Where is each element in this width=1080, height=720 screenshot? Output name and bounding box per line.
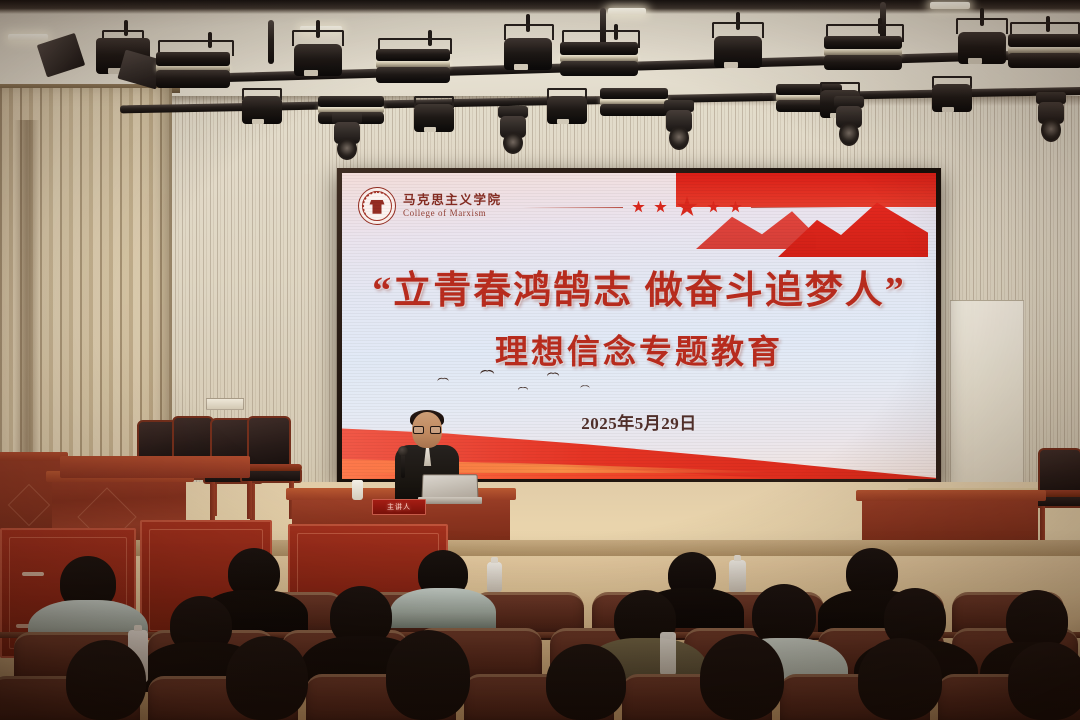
audience-shoulders [390, 588, 496, 628]
audience-head [386, 630, 470, 720]
star-icon [632, 201, 645, 214]
school-name-block: 马克思主义学院 College of Marxism [403, 193, 502, 218]
fresnel-light [412, 100, 456, 140]
moving-head-light [1034, 92, 1068, 144]
screen-subtitle: 理想信念专题教育 [342, 325, 936, 373]
audience-head [546, 644, 626, 720]
star-divider [522, 195, 852, 219]
truss-drop-pipe [268, 20, 274, 64]
bird-icon [580, 385, 588, 390]
stage-side-cabinet-top [0, 452, 68, 461]
podium-nameplate: 主讲人 [372, 499, 426, 515]
audience-head [700, 634, 784, 720]
moving-head-light [832, 96, 866, 148]
fresnel-light [556, 36, 642, 82]
laptop-base [418, 497, 482, 504]
bird-icon [480, 370, 493, 377]
divider-rule-left [522, 207, 623, 208]
podium-laptop [418, 474, 480, 504]
ceiling-shadow [0, 0, 1080, 14]
school-seal-icon [358, 187, 396, 225]
fresnel-light [930, 80, 974, 120]
audience-head [66, 640, 146, 720]
star-icon-large [676, 196, 698, 218]
curtain-fold-shadow [14, 120, 40, 480]
fresnel-light [372, 42, 456, 88]
screen-main-title: “立青春鸿鹄志 做奋斗追梦人” [342, 259, 936, 314]
audience-water-bottle [660, 632, 676, 676]
star-icon [654, 201, 667, 214]
audience-head [1008, 642, 1080, 720]
podium-water-cup [352, 480, 363, 500]
screen-logo-block: 马克思主义学院 College of Marxism [358, 187, 502, 225]
moving-head-light [330, 112, 364, 162]
fresnel-light [288, 34, 346, 82]
wall-access-door [950, 300, 1024, 490]
wall-vent-panel [206, 398, 244, 410]
bird-icon [438, 378, 448, 384]
fresnel-light [240, 92, 284, 132]
divider-rule-right [751, 207, 852, 208]
fresnel-light [1006, 28, 1080, 74]
moving-head-light [496, 106, 530, 156]
podium-microphone [401, 452, 405, 478]
fresnel-light [820, 30, 906, 76]
fresnel-light [708, 26, 766, 74]
speaker-glasses-icon [413, 426, 441, 434]
fresnel-light [500, 28, 556, 76]
fresnel-light [952, 22, 1010, 70]
door-handle [22, 572, 44, 576]
audience-thermos [487, 562, 502, 592]
audience-thermos [729, 560, 746, 592]
ceiling-light-strip [8, 34, 48, 41]
auditorium-photo: 马克思主义学院 College of Marxism “立青春鸿鹄志 做奋斗追梦… [0, 0, 1080, 720]
fresnel-light [545, 92, 589, 132]
stage-long-table [60, 456, 250, 478]
ceiling-light-strip [930, 2, 970, 9]
audience-head [226, 636, 308, 720]
star-icon [729, 201, 742, 214]
audience-head [858, 638, 942, 720]
school-name-cn: 马克思主义学院 [403, 193, 502, 207]
ceiling-light-strip [608, 8, 646, 15]
audience-head [1006, 590, 1068, 650]
bird-icon [547, 373, 558, 379]
school-name-en: College of Marxism [403, 208, 502, 219]
fresnel-light [150, 44, 236, 92]
moving-head-light [662, 100, 696, 152]
bird-icon [518, 387, 527, 392]
right-podium-top [856, 490, 1046, 501]
laptop-lid [422, 474, 479, 499]
star-icon [707, 201, 720, 214]
audience-head [752, 584, 816, 646]
